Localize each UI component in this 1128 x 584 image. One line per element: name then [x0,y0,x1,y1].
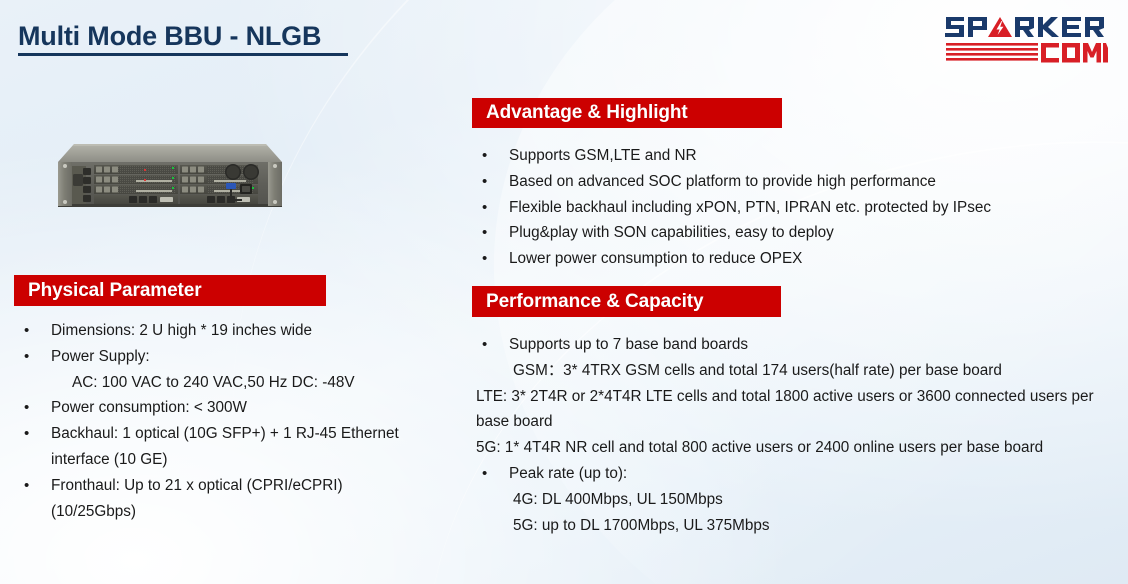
logo-comm-text [1041,43,1108,63]
rack-ear-left [58,162,72,206]
list-item: • Backhaul: 1 optical (10G SFP+) + 1 RJ-… [18,421,458,473]
performance-capacity-list: • Supports up to 7 base band boards GSM：… [476,332,1122,538]
list-subitem-text: 5G: up to DL 1700Mbps, UL 375Mbps [513,517,770,534]
bullet-icon: • [24,344,29,370]
list-item: • Power consumption: < 300W [18,395,458,421]
list-item: • Dimensions: 2 U high * 19 inches wide [18,318,458,344]
list-item: • Plug&play with SON capabilities, easy … [476,220,1096,246]
list-subitem: LTE: 3* 2T4R or 2*4T4R LTE cells and tot… [476,384,1122,436]
list-item: • Fronthaul: Up to 21 x optical (CPRI/eC… [18,473,458,525]
bullet-icon: • [482,143,487,169]
chassis-top-lid [58,144,282,162]
list-subitem-text: 5G: 1* 4T4R NR cell and total 800 active… [476,439,962,456]
list-item-text: Flexible backhaul including xPON, PTN, I… [509,199,991,216]
list-item-text-continued: (10/25Gbps) [51,499,458,525]
list-item-text: Fronthaul: Up to 21 x optical (CPRI/eCPR… [51,477,343,494]
list-subitem-text: GSM：3* 4TRX GSM cells and total 174 user… [513,362,1002,379]
logo-sparker-text [945,17,1104,37]
list-item-text: Based on advanced SOC platform to provid… [509,173,936,190]
bullet-icon: • [24,421,29,447]
section-heading-advantage-highlight: Advantage & Highlight [472,98,782,128]
bbu-chassis-photo [44,138,296,222]
list-subitem: 5G: up to DL 1700Mbps, UL 375Mbps [476,513,1122,539]
page-title: Multi Mode BBU - NLGB [18,22,348,50]
list-item-text: Power Supply: [51,348,150,365]
list-item-text: Supports GSM,LTE and NR [509,147,697,164]
section-heading-physical-parameter: Physical Parameter [14,275,326,306]
list-item-text: Peak rate (up to): [509,465,627,482]
bullet-icon: • [482,169,487,195]
list-item: • Supports GSM,LTE and NR [476,143,1096,169]
rack-ear-right [268,162,282,206]
list-item-text: Lower power consumption to reduce OPEX [509,250,802,267]
list-item: • Peak rate (up to): [476,461,1122,487]
list-item-text: Plug&play with SON capabilities, easy to… [509,224,834,241]
bullet-icon: • [24,395,29,421]
list-item-text-continued: interface (10 GE) [51,447,458,473]
list-item: • Supports up to 7 base band boards [476,332,1122,358]
physical-parameter-list: • Dimensions: 2 U high * 19 inches wide … [18,318,458,524]
list-subitem: AC: 100 VAC to 240 VAC,50 Hz DC: -48V [18,370,458,396]
slide-canvas: Multi Mode BBU - NLGB [0,0,1128,584]
bullet-icon: • [482,195,487,221]
list-item-text: Power consumption: < 300W [51,399,247,416]
advantage-highlight-list: • Supports GSM,LTE and NR • Based on adv… [476,143,1096,272]
list-subitem-text: 4G: DL 400Mbps, UL 150Mbps [513,491,723,508]
bullet-icon: • [24,473,29,499]
list-item: • Lower power consumption to reduce OPEX [476,246,1096,272]
list-subitem-text: AC: 100 VAC to 240 VAC,50 Hz DC: -48V [72,374,355,391]
section-heading-performance-capacity: Performance & Capacity [472,286,781,317]
list-item: • Based on advanced SOC platform to prov… [476,169,1096,195]
bullet-icon: • [482,461,487,487]
list-subitem-text: LTE: 3* 2T4R or 2*4T4R LTE cells and tot… [476,388,951,405]
list-subitem: 5G: 1* 4T4R NR cell and total 800 active… [476,435,1122,461]
logo-lightning-a-icon [988,17,1012,37]
list-subitem-text-continued: base board [967,439,1044,456]
list-item-text: Dimensions: 2 U high * 19 inches wide [51,322,312,339]
title-underline [18,53,348,56]
list-item: • Power Supply: [18,344,458,370]
list-item-text: Backhaul: 1 optical (10G SFP+) + 1 RJ-45… [51,425,399,442]
list-subitem: GSM：3* 4TRX GSM cells and total 174 user… [476,358,1122,384]
list-subitem: 4G: DL 400Mbps, UL 150Mbps [476,487,1122,513]
bullet-icon: • [24,318,29,344]
list-item: • Flexible backhaul including xPON, PTN,… [476,195,1096,221]
bullet-icon: • [482,246,487,272]
bullet-icon: • [482,332,487,358]
title-block: Multi Mode BBU - NLGB [18,22,348,56]
list-item-text: Supports up to 7 base band boards [509,336,748,353]
bullet-icon: • [482,220,487,246]
sparker-comm-logo [942,10,1108,68]
logo-stripes [946,43,1038,61]
